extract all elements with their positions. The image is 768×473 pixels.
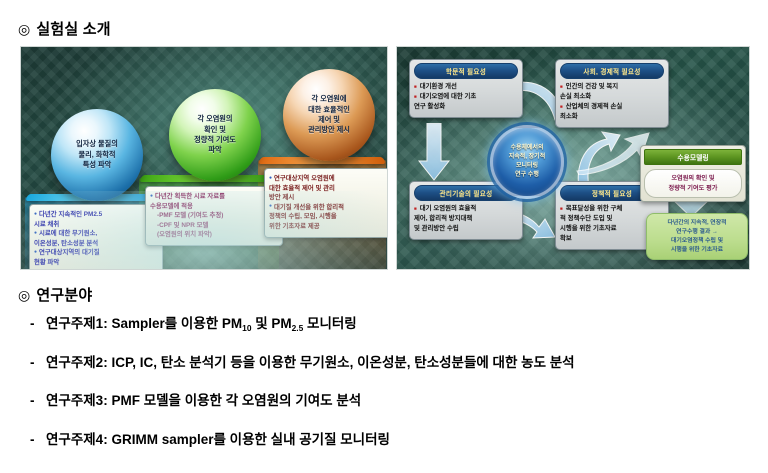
research-topic-3-text: 연구주제3: PMF 모델을 이용한 각 오염원의 기여도 분석 <box>46 389 361 409</box>
list-item-research-topic-2: - 연구주제2: ICP, IC, 탄소 분석기 등을 이용한 무기원소, 이온… <box>30 351 750 371</box>
list-item: 방안 제시 <box>269 193 385 203</box>
list-dash-1: - <box>30 316 46 331</box>
list-item-research-topic-3: - 연구주제3: PMF 모델을 이용한 각 오염원의 기여도 분석 <box>30 389 750 409</box>
right-diagram-necessity-cycle: 수용체에서의지속적, 장기적모니터링연구 수행 학문적 필요성 대기환경 개선대… <box>396 46 750 270</box>
research-topic-1-text: 연구주제1: Sampler를 이용한 PM10 및 PM2.5 모니터링 <box>46 312 357 332</box>
list-item: 수용모델에 적용 <box>150 202 278 212</box>
sphere-green-label: 각 오염원의확인 및정량적 기여도파악 <box>187 114 243 156</box>
list-item-research-topic-4: - 연구주제4: GRIMM sampler를 이용한 실내 공기질 모니터링 <box>30 428 750 448</box>
stair-card-sampling: 다년간 지속적인 PM2.5시료 채취시료에 대한 무기원소,이온성분, 탄소성… <box>29 204 163 270</box>
list-item: 시료에 대한 무기원소, <box>34 229 158 239</box>
quad-items-academic: 대기환경 개선대기오염에 대한 기초연구 활성화 <box>414 82 518 112</box>
list-item: 제어, 합리적 방지대책 <box>414 214 518 224</box>
quad-header-social: 사회, 경제적 필요성 <box>560 63 664 79</box>
list-item: 연구 활성화 <box>414 102 518 112</box>
list-item: 대기환경 개선 <box>414 82 518 92</box>
section-title-text: 실험실 소개 <box>36 21 110 38</box>
list-item: 다년간 획득한 시료 자료를 <box>150 192 278 202</box>
list-dash-2: - <box>30 355 46 370</box>
list-dash-3: - <box>30 393 46 408</box>
list-item: 현황 파악 <box>34 258 158 268</box>
topic-2-body: ICP, IC, 탄소 분석기 등을 이용한 무기원소, 이온성분, 탄소성분들… <box>111 355 574 370</box>
list-item: 다년간 지속적인 PM2.5 <box>34 210 158 220</box>
list-item: 위한 기초자료 제공 <box>269 222 385 232</box>
topic-3-label: 연구주제3: <box>46 393 108 408</box>
panel-receptor-modeling: 수용모델링 오염원의 확인 및정량적 기여도 평가 <box>640 145 746 202</box>
research-fields-list: - 연구주제1: Sampler를 이용한 PM10 및 PM2.5 모니터링 … <box>30 312 750 466</box>
arrow-academic-down-icon <box>417 123 451 181</box>
list-item: 대한 효율적 제어 및 관리 <box>269 184 385 194</box>
topic-1-sub-10: 10 <box>242 323 251 333</box>
page-title-research-fields: ◎연구분야 <box>18 284 92 305</box>
list-item: 연구대상지역의 대기질 <box>34 248 158 258</box>
panel-research-outcome: 다년간의 지속적, 연장적연구수행 결과 →대기오염정책 수립 및시행을 위한 … <box>646 213 748 260</box>
stair-card-policy: 연구대상지역 오염원에대한 효율적 제어 및 관리방안 제시대기질 개선을 위한… <box>264 168 388 238</box>
quad-header-academic: 학문적 필요성 <box>414 63 518 79</box>
topic-1-post: 모니터링 <box>303 316 356 331</box>
list-item-research-topic-1: - 연구주제1: Sampler를 이용한 PM10 및 PM2.5 모니터링 <box>30 312 750 332</box>
panel-modeling-body: 오염원의 확인 및정량적 기여도 평가 <box>644 169 742 198</box>
section-marker-icon-2: ◎ <box>18 287 30 304</box>
sphere-source-control: 각 오염원에대한 효율적인제어 및관리방안 제시 <box>283 69 375 161</box>
list-item: 다년간의 지속적, 연장적 <box>651 219 743 228</box>
list-item: 산업체의 경제적 손실 <box>560 102 664 112</box>
topic-2-label: 연구주제2: <box>46 355 108 370</box>
sphere-source-identification: 각 오염원의확인 및정량적 기여도파악 <box>169 89 261 181</box>
sphere-orange-label: 각 오염원에대한 효율적인제어 및관리방안 제시 <box>301 94 357 136</box>
list-item: 손실 최소화 <box>560 92 664 102</box>
list-item: 시료 채취 <box>34 220 158 230</box>
list-item: 정책의 수립, 모임, 시행을 <box>269 212 385 222</box>
research-topic-4-text: 연구주제4: GRIMM sampler를 이용한 실내 공기질 모니터링 <box>46 428 390 448</box>
section-title-text-2: 연구분야 <box>36 287 92 304</box>
page-title-lab-intro: ◎실험실 소개 <box>18 18 111 39</box>
list-item: 이온성분, 탄소성분 분석 <box>34 239 158 249</box>
topic-4-label: 연구주제4: <box>46 432 108 447</box>
center-circle-label: 수용체에서의지속적, 장기적모니터링연구 수행 <box>505 144 549 180</box>
quad-items-management: 대기 오염원의 효율적제어, 합리적 방지대책및 관리방안 수립 <box>414 204 518 234</box>
list-item: 인간의 건강 및 복지 <box>560 82 664 92</box>
section-marker-icon: ◎ <box>18 21 30 38</box>
quad-items-social: 인간의 건강 및 복지손실 최소화산업체의 경제적 손실최소화 <box>560 82 664 122</box>
list-item: -PMF 모델 (기여도 추정) <box>150 211 278 221</box>
list-item: 연구대상지역 오염원에 <box>269 174 385 184</box>
list-item: 시행을 위한 기초자료 <box>651 246 743 255</box>
list-item: 대기 오염원의 효율적 <box>414 204 518 214</box>
sphere-blue-label: 입자상 물질의물리, 화학적특성 파악 <box>69 139 125 170</box>
stair-card-modeling: 다년간 획득한 시료 자료를수용모델에 적용-PMF 모델 (기여도 추정)-C… <box>145 186 283 246</box>
sphere-particle-properties: 입자상 물질의물리, 화학적특성 파악 <box>51 109 143 201</box>
panel-modeling-header: 수용모델링 <box>644 149 742 165</box>
list-item: 연구수행 결과 → <box>651 228 743 237</box>
list-item: 대기오염에 대한 기초 <box>414 92 518 102</box>
list-item: (오염원의 위치 파악) <box>150 230 278 240</box>
list-item: 최소화 <box>560 112 664 122</box>
list-dash-4: - <box>30 432 46 447</box>
center-circle-monitoring: 수용체에서의지속적, 장기적모니터링연구 수행 <box>490 125 564 199</box>
list-item: 대기질 개선을 위한 합리적 <box>269 203 385 213</box>
topic-1-pre: Sampler를 이용한 PM <box>111 316 242 331</box>
quad-card-social-economic-necessity: 사회, 경제적 필요성 인간의 건강 및 복지손실 최소화산업체의 경제적 손실… <box>555 59 669 128</box>
figure-band: 입자상 물질의물리, 화학적특성 파악 각 오염원의확인 및정량적 기여도파악 … <box>20 46 748 268</box>
topic-3-body: PMF 모델을 이용한 각 오염원의 기여도 분석 <box>111 393 361 408</box>
topic-4-body: GRIMM sampler를 이용한 실내 공기질 모니터링 <box>111 432 389 447</box>
list-item: 대기오염정책 수립 및 <box>651 237 743 246</box>
list-item: 및 관리방안 수립 <box>414 224 518 234</box>
list-item: -CPF 및 NPR 모델 <box>150 221 278 231</box>
topic-1-label: 연구주제1: <box>46 316 108 331</box>
left-diagram-research-flow: 입자상 물질의물리, 화학적특성 파악 각 오염원의확인 및정량적 기여도파악 … <box>20 46 388 270</box>
topic-1-mid: 및 PM <box>251 316 291 331</box>
list-item: 목표달성을 위한 구체 <box>560 204 664 214</box>
topic-1-sub-25: 2.5 <box>292 323 304 333</box>
quad-card-academic-necessity: 학문적 필요성 대기환경 개선대기오염에 대한 기초연구 활성화 <box>409 59 523 118</box>
research-topic-2-text: 연구주제2: ICP, IC, 탄소 분석기 등을 이용한 무기원소, 이온성분… <box>46 351 575 371</box>
